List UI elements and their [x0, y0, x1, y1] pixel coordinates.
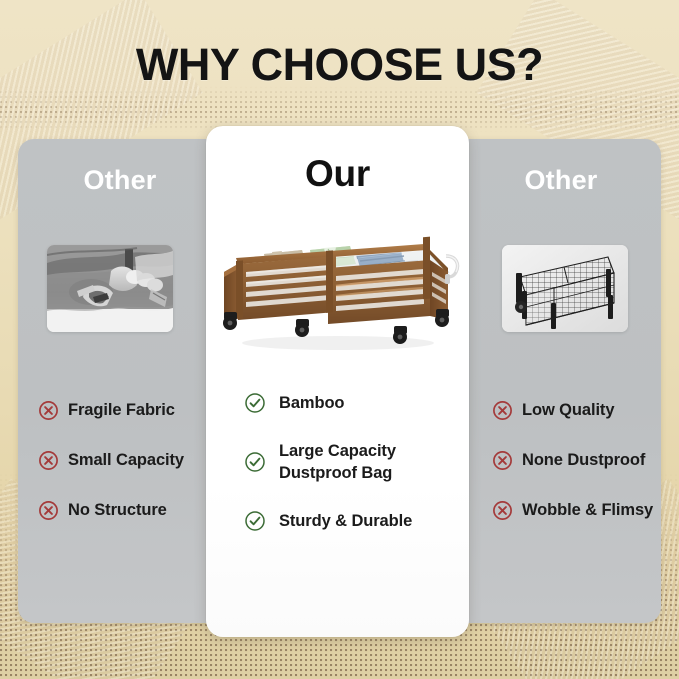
feature-label: None Dustproof [522, 450, 645, 471]
comparison-card-our: Our [206, 126, 469, 637]
feature-label: Large Capacity Dustproof Bag [279, 440, 396, 484]
card-title-our: Our [206, 153, 469, 195]
feature-label: Small Capacity [68, 450, 184, 471]
cross-circle-icon [38, 450, 59, 471]
feature-label: Low Quality [522, 400, 614, 421]
cross-circle-icon [38, 500, 59, 521]
feature-label: Sturdy & Durable [279, 511, 412, 532]
feature-row: Large Capacity Dustproof Bag [244, 440, 459, 484]
feature-row: Sturdy & Durable [244, 508, 459, 534]
infographic-canvas: WHY CHOOSE US? Other [0, 0, 679, 679]
cross-circle-icon [492, 400, 513, 421]
fabric-bag-photo [47, 245, 173, 332]
cross-circle-icon [492, 500, 513, 521]
feature-label: No Structure [68, 500, 167, 521]
feature-row: None Dustproof [492, 447, 679, 473]
feature-list-other-right: Low Quality None Dustproof [492, 397, 679, 523]
check-circle-icon [244, 451, 266, 473]
feature-label: Wobble & Flimsy [522, 500, 653, 521]
check-circle-icon [244, 392, 266, 414]
feature-label: Bamboo [279, 393, 344, 414]
feature-row: Wobble & Flimsy [492, 497, 679, 523]
wire-mesh-basket-photo [502, 245, 628, 332]
cross-circle-icon [492, 450, 513, 471]
check-circle-icon [244, 510, 266, 532]
feature-list-our: Bamboo Large Capacity Dustproof Bag [244, 390, 459, 534]
feature-label: Fragile Fabric [68, 400, 175, 421]
bamboo-storage-box-photo [210, 216, 466, 368]
cross-circle-icon [38, 400, 59, 421]
page-title: WHY CHOOSE US? [0, 40, 679, 90]
feature-row: Low Quality [492, 397, 679, 423]
feature-row: Bamboo [244, 390, 459, 416]
